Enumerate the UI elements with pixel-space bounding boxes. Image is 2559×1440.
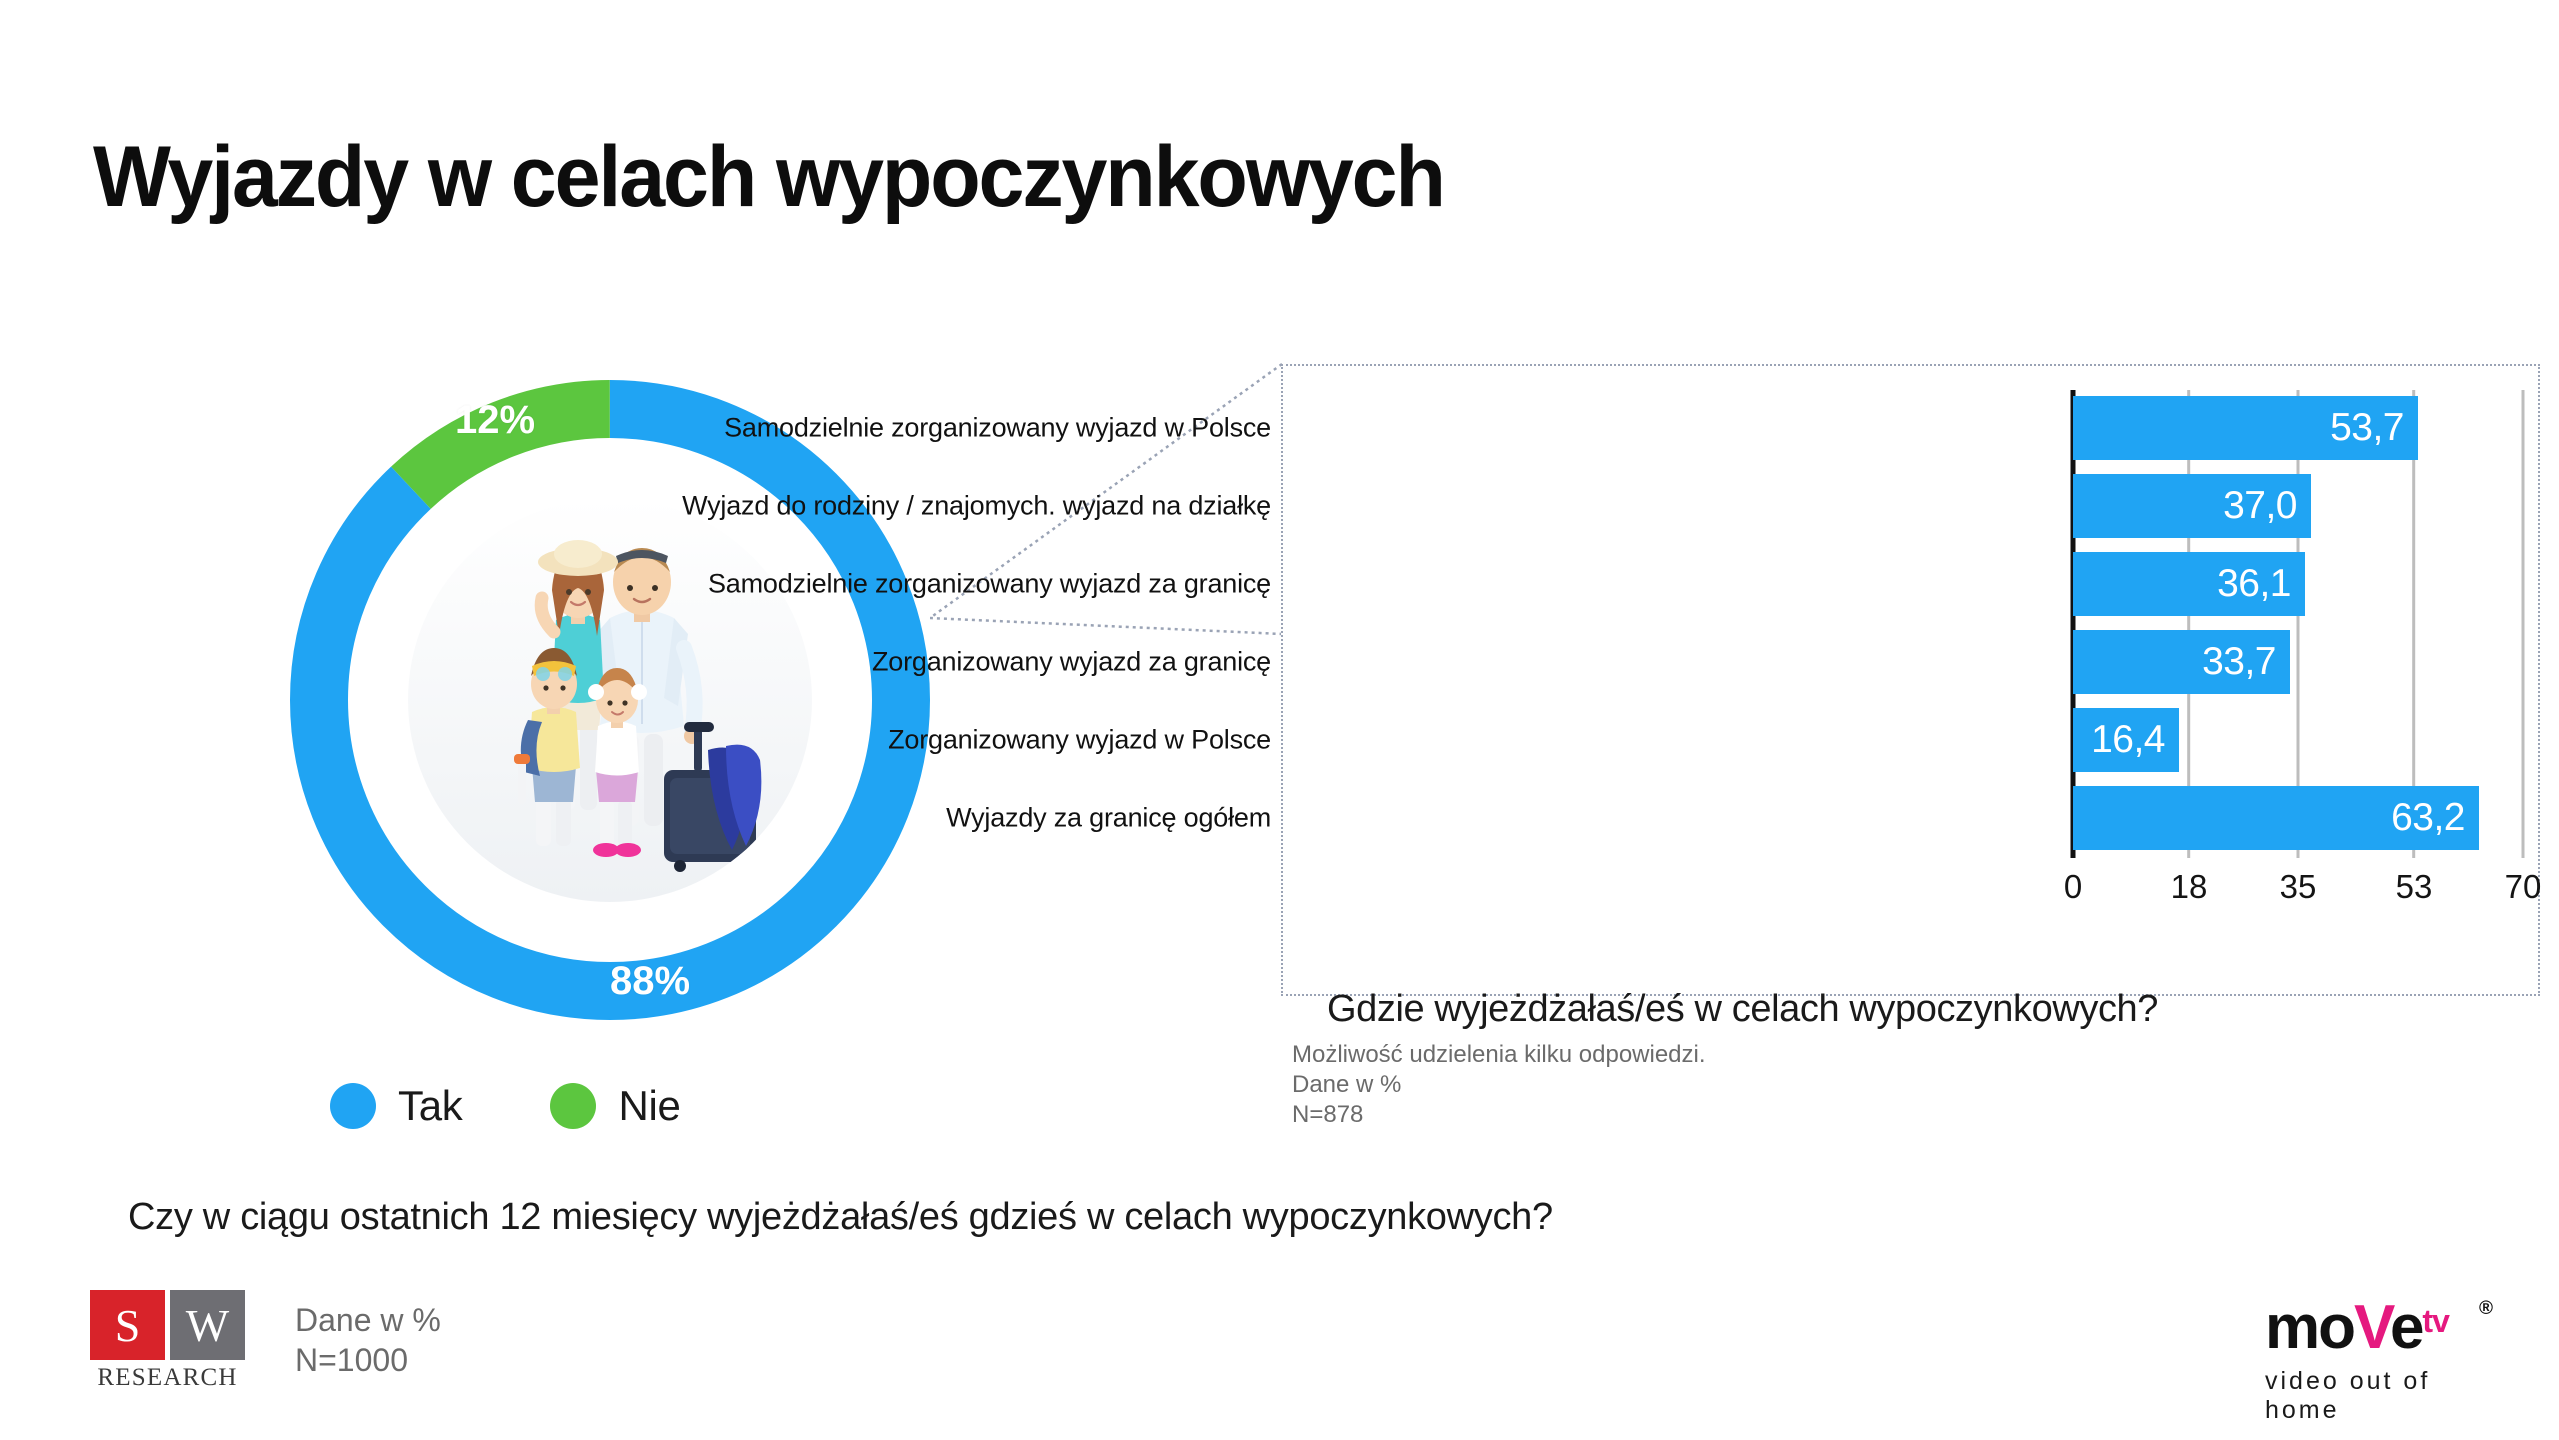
- bar-category-label: Samodzielnie zorganizowany wyjazd w Pols…: [724, 413, 1271, 444]
- bar-value-label: 63,2: [2391, 796, 2465, 840]
- axis-tick-label: 35: [2280, 868, 2317, 906]
- bar-value-label: 37,0: [2223, 484, 2297, 528]
- sw-sample-note: Dane w % N=1000: [295, 1300, 441, 1380]
- chart-notes: Możliwość udzielenia kilku odpowiedzi. D…: [1292, 1040, 1706, 1130]
- bar-category-label: Zorganizowany wyjazd w Polsce: [888, 725, 1271, 756]
- sw-logo-boxes: S W: [90, 1290, 250, 1360]
- bar-row[interactable]: Samodzielnie zorganizowany wyjazd za gra…: [1281, 552, 2540, 616]
- move-tv-logo: moVetv® video out of home: [2265, 1290, 2505, 1400]
- bar-rect: 53,7: [2073, 396, 2418, 460]
- slide-canvas: Wyjazdy w celach wypoczynkowych: [0, 0, 2559, 1440]
- sw-research-wordmark: RESEARCH: [90, 1364, 245, 1392]
- bar-rect: 37,0: [2073, 474, 2311, 538]
- legend-label-tak: Tak: [398, 1082, 462, 1130]
- move-part-mo: mo: [2265, 1293, 2354, 1362]
- bar-value-label: 36,1: [2217, 562, 2291, 606]
- page-title: Wyjazdy w celach wypoczynkowych: [93, 128, 1444, 227]
- bar-rect: 16,4: [2073, 708, 2179, 772]
- bar-value-label: 53,7: [2330, 406, 2404, 450]
- donut-legend: Tak Nie: [330, 1082, 681, 1130]
- axis-tick-label: 18: [2171, 868, 2208, 906]
- bar-row[interactable]: Wyjazd do rodziny / znajomych. wyjazd na…: [1281, 474, 2540, 538]
- chart-question: Gdzie wyjeżdżałaś/eś w celach wypoczynko…: [1327, 988, 2158, 1031]
- bar-row[interactable]: Samodzielnie zorganizowany wyjazd w Pols…: [1281, 396, 2540, 460]
- bar-category-label: Zorganizowany wyjazd za granicę: [872, 647, 1271, 678]
- bar-row[interactable]: Wyjazdy za granicę ogółem 63,2: [1281, 786, 2540, 850]
- bar-category-label: Wyjazd do rodziny / znajomych. wyjazd na…: [682, 491, 1271, 522]
- move-part-e: e: [2390, 1293, 2422, 1362]
- bar-category-label: Samodzielnie zorganizowany wyjazd za gra…: [708, 569, 1271, 600]
- move-wordmark: moVetv®: [2265, 1290, 2505, 1359]
- legend-item-tak[interactable]: Tak: [330, 1082, 462, 1130]
- main-question: Czy w ciągu ostatnich 12 miesięcy wyjeżd…: [128, 1196, 1553, 1239]
- legend-label-nie: Nie: [618, 1082, 680, 1130]
- donut-chart: 12% 88%: [265, 355, 955, 1045]
- sw-research-logo: S W RESEARCH: [90, 1290, 250, 1398]
- bar-rect: 33,7: [2073, 630, 2290, 694]
- bar-row[interactable]: Zorganizowany wyjazd za granicę 33,7: [1281, 630, 2540, 694]
- legend-item-nie[interactable]: Nie: [550, 1082, 680, 1130]
- bar-value-label: 33,7: [2202, 640, 2276, 684]
- move-tv-suffix: tv: [2422, 1303, 2448, 1339]
- legend-swatch-nie: [550, 1083, 596, 1129]
- bar-category-label: Wyjazdy za granicę ogółem: [946, 803, 1271, 834]
- bar-row[interactable]: Zorganizowany wyjazd w Polsce 16,4: [1281, 708, 2540, 772]
- family-photo-svg: [408, 498, 812, 902]
- move-tagline: video out of home: [2265, 1367, 2505, 1425]
- bar-value-label: 16,4: [2091, 718, 2165, 762]
- donut-label-tak: 88%: [610, 959, 690, 1004]
- sw-letter-s: S: [90, 1290, 165, 1360]
- bar-rect: 36,1: [2073, 552, 2305, 616]
- bar-rect: 63,2: [2073, 786, 2479, 850]
- axis-tick-label: 53: [2396, 868, 2433, 906]
- axis-tick-label: 0: [2064, 868, 2082, 906]
- axis-tick-label: 70: [2505, 868, 2542, 906]
- donut-label-nie: 12%: [455, 398, 535, 443]
- registered-mark-icon: ®: [2479, 1278, 2491, 1340]
- move-part-v: V: [2354, 1293, 2390, 1362]
- family-photo: [408, 498, 812, 902]
- sw-letter-w: W: [170, 1290, 245, 1360]
- legend-swatch-tak: [330, 1083, 376, 1129]
- bar-chart: Samodzielnie zorganizowany wyjazd w Pols…: [1281, 364, 2540, 996]
